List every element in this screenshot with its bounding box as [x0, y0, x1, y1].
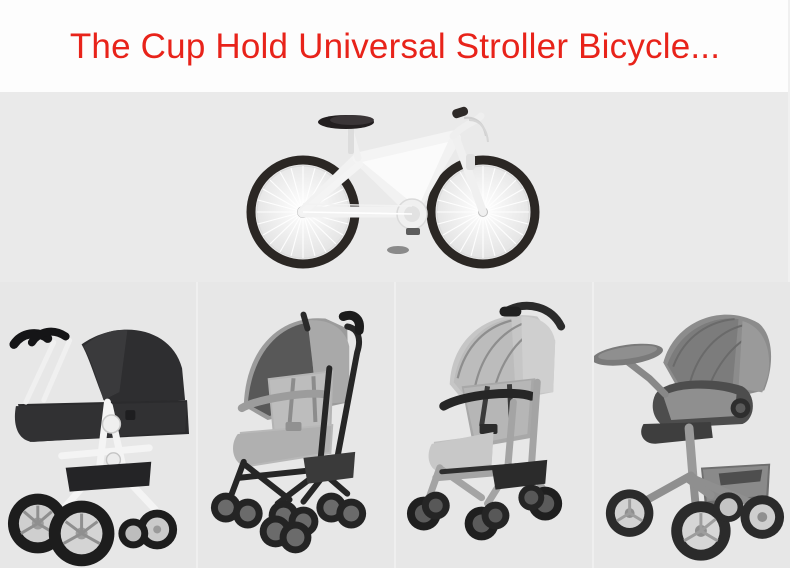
product-panel-stroller-bassinet-black[interactable]: [0, 282, 198, 568]
wheel-right: [741, 495, 785, 539]
wheel-left: [606, 489, 654, 537]
wheel-back: [714, 492, 744, 522]
saddle: [318, 115, 374, 154]
product-panel-stroller-umbrella-gray[interactable]: [198, 282, 396, 568]
hero-section: [0, 92, 790, 282]
product-panel-stroller-highseat-darkgray[interactable]: [594, 282, 790, 568]
page-title: The Cup Hold Universal Stroller Bicycle.…: [70, 29, 720, 64]
product-panel-stroller-compact-lightgray[interactable]: [396, 282, 594, 568]
wheel-rear-pair: [518, 485, 562, 521]
wheel-front-pair: [407, 492, 450, 531]
stroller-umbrella-gray-icon: [198, 282, 394, 568]
wheel-mid-pair: [465, 502, 510, 541]
wheel-front-pair: [211, 493, 263, 529]
title-band: The Cup Hold Universal Stroller Bicycle.…: [0, 0, 790, 92]
product-panel-strip: [0, 282, 790, 568]
stroller-compact-lightgray-icon: [396, 282, 592, 568]
wheel-mid: [49, 501, 115, 567]
stroller-highseat-darkgray-icon: [594, 282, 790, 568]
bicycle-icon: [238, 102, 553, 270]
wheel-back-pair: [316, 493, 366, 529]
wheel-front-2: [118, 519, 148, 549]
product-banner: The Cup Hold Universal Stroller Bicycle.…: [0, 0, 790, 568]
stroller-bassinet-black-icon: [0, 282, 196, 568]
